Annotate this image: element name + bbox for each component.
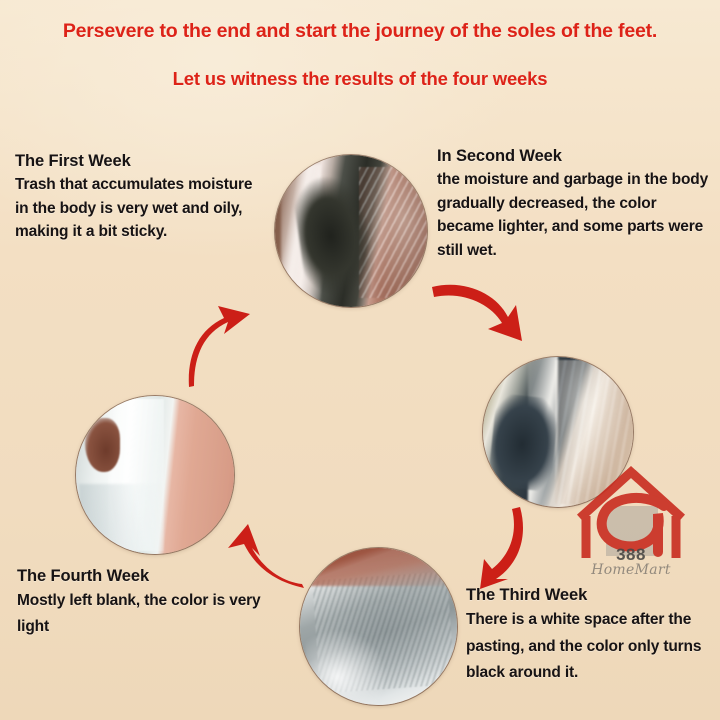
week-two-text-block: In Second Week the moisture and garbage … bbox=[437, 147, 715, 263]
page-subtitle: Let us witness the results of the four w… bbox=[0, 68, 720, 90]
poster-image: Persevere to the end and start the journ… bbox=[0, 0, 720, 720]
week-three-text-block: The Third Week There is a white space af… bbox=[466, 586, 718, 687]
curved-arrow-up-right-icon bbox=[188, 300, 266, 390]
arrow-week3-to-week4 bbox=[226, 518, 306, 590]
week-one-text-block: The First Week Trash that accumulates mo… bbox=[15, 152, 265, 244]
foot-pad-photo-week-one bbox=[275, 155, 427, 307]
week-three-body: There is a white space after the pasting… bbox=[466, 607, 718, 687]
week-two-body: the moisture and garbage in the body gra… bbox=[437, 168, 715, 263]
arrow-week1-to-week2 bbox=[430, 283, 526, 355]
curved-arrow-right-down-icon bbox=[430, 283, 526, 355]
watermark-brand: HomeMart bbox=[566, 562, 696, 578]
foot-pad-photo-week-three bbox=[300, 548, 457, 705]
arrow-week4-to-week1 bbox=[188, 300, 266, 390]
week-four-body: Mostly left blank, the color is very lig… bbox=[17, 588, 267, 640]
arrow-week2-to-week3 bbox=[466, 505, 528, 591]
week-two-title: In Second Week bbox=[437, 147, 715, 166]
page-title: Persevere to the end and start the journ… bbox=[0, 20, 720, 43]
foot-pad-photo-week-four bbox=[76, 396, 234, 554]
curved-arrow-up-left-icon bbox=[226, 518, 306, 590]
curved-arrow-down-left-icon bbox=[466, 505, 528, 591]
week-one-title: The First Week bbox=[15, 152, 265, 171]
week-one-body: Trash that accumulates moisture in the b… bbox=[15, 173, 265, 244]
